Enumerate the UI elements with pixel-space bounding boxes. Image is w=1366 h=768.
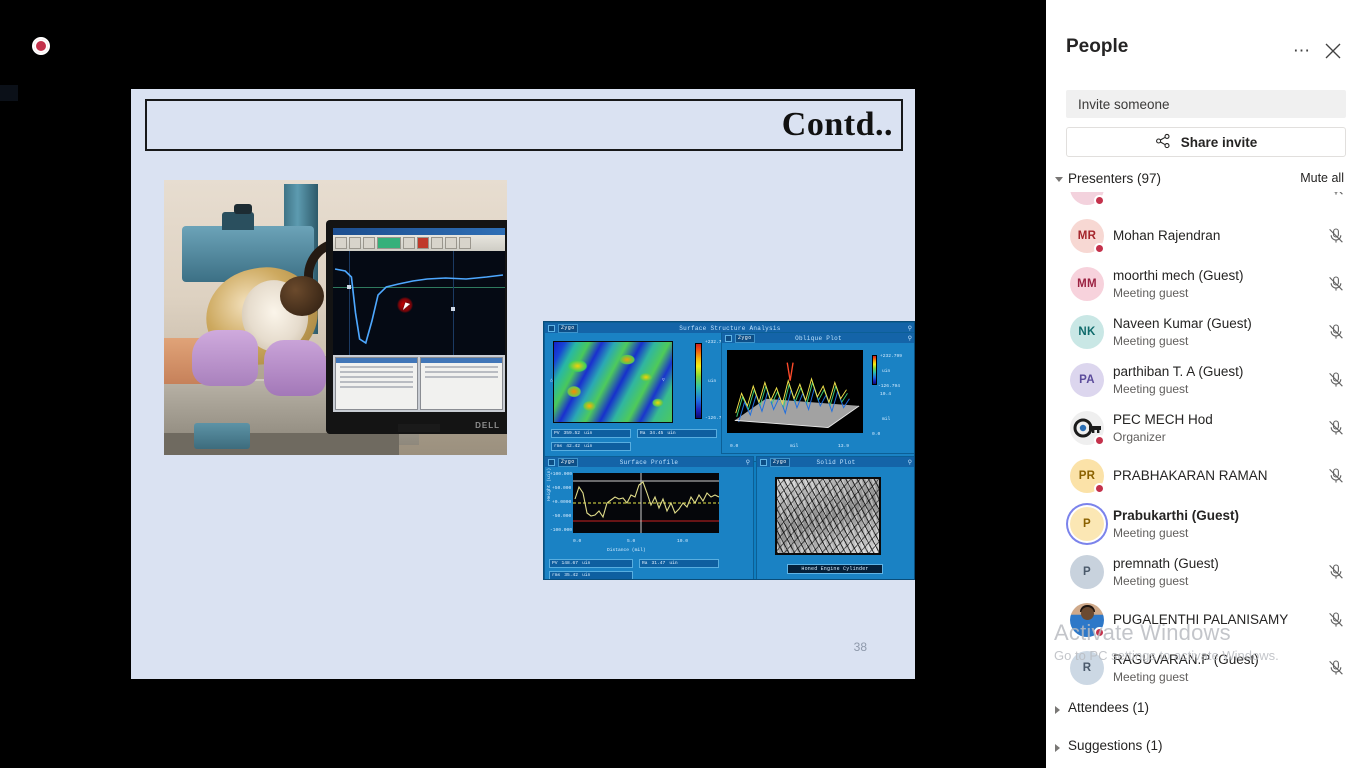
close-icon[interactable] bbox=[1322, 40, 1344, 62]
profile-xtick-2: 10.0 bbox=[677, 539, 688, 544]
participant-name: Mohan Rajendran bbox=[1113, 228, 1220, 243]
help-icon[interactable]: ⚲ bbox=[908, 325, 912, 332]
presence-badge bbox=[1094, 195, 1105, 206]
section-attendees-label: Attendees (1) bbox=[1068, 700, 1149, 715]
section-attendees[interactable]: Attendees (1) bbox=[1046, 700, 1366, 726]
profile-field-pv: PV 148.67 uin bbox=[549, 559, 633, 568]
mute-microphone-icon[interactable] bbox=[1326, 274, 1346, 294]
participant-role: Organizer bbox=[1113, 430, 1166, 444]
people-panel: People ⋯ Share invite bbox=[1046, 0, 1366, 768]
meeting-stage: Contd.. bbox=[0, 0, 1046, 768]
participant-name: moorthi mech (Guest) bbox=[1113, 268, 1244, 283]
avatar: R bbox=[1070, 651, 1104, 685]
help-icon[interactable]: ⚲ bbox=[746, 459, 750, 466]
oblique-x-min: 0.0 bbox=[730, 444, 738, 449]
avatar: NK bbox=[1070, 315, 1104, 349]
profile-ytick-4: -100.000 bbox=[550, 528, 572, 533]
participant-role: Meeting guest bbox=[1113, 286, 1188, 300]
participant-name: Naveen Kumar (Guest) bbox=[1113, 316, 1252, 331]
chevron-down-icon[interactable] bbox=[1055, 177, 1063, 182]
help-icon[interactable]: ⚲ bbox=[908, 459, 912, 466]
field-pv: PV 359.52 uin bbox=[551, 429, 631, 438]
zygo-panel-oblique-plot: Zygo Oblique Plot ⚲ bbox=[721, 332, 915, 454]
oblique-scale-min: -126.794 bbox=[878, 384, 900, 389]
zygo-panel-solid-plot: Zygo Solid Plot ⚲ Honed Engine Cylinder bbox=[756, 456, 915, 580]
panel-title: Surface Profile bbox=[545, 459, 753, 466]
participant-name: PUGALENTHI PALANISAMY bbox=[1113, 612, 1288, 627]
participant-role: Meeting guest bbox=[1113, 574, 1188, 588]
field-ra: Ra 34.45 uin bbox=[637, 429, 717, 438]
surface-profile-plot bbox=[573, 473, 719, 533]
share-icon bbox=[1155, 133, 1171, 152]
presence-badge bbox=[1094, 435, 1105, 446]
panel-title: Surface Structure Analysis bbox=[545, 325, 915, 332]
chevron-right-icon[interactable] bbox=[1055, 706, 1060, 714]
color-scale-bar bbox=[695, 343, 702, 419]
mute-microphone-icon[interactable] bbox=[1326, 322, 1346, 342]
help-icon[interactable]: ⚲ bbox=[908, 335, 912, 342]
profile-field-rms: rms 35.42 uin bbox=[549, 571, 633, 580]
participant-row[interactable]: Ppremnath (Guest)Meeting guest bbox=[1046, 548, 1366, 596]
mute-microphone-icon[interactable] bbox=[1326, 418, 1346, 438]
zygo-analysis-photo: Zygo Surface Structure Analysis ⚲ △ ▽ +2… bbox=[543, 321, 915, 580]
field-pv-unit: uin bbox=[584, 431, 592, 436]
share-invite-label: Share invite bbox=[1181, 135, 1258, 150]
profile-field-pv-value: 148.67 bbox=[562, 561, 579, 566]
field-rms-unit: uin bbox=[584, 444, 592, 449]
panel-title: Oblique Plot bbox=[722, 335, 915, 342]
field-pv-label: PV bbox=[554, 431, 560, 436]
mute-microphone-icon[interactable] bbox=[1326, 658, 1346, 678]
monitor: DELL bbox=[326, 220, 507, 434]
avatar: MM bbox=[1070, 267, 1104, 301]
panel-title: Solid Plot bbox=[757, 459, 915, 466]
profile-field-rms-value: 35.42 bbox=[564, 573, 578, 578]
profile-field-ra: Ra 31.47 uin bbox=[639, 559, 719, 568]
profile-field-rms-unit: uin bbox=[582, 573, 590, 578]
field-rms: rms 42.42 uin bbox=[551, 442, 631, 451]
oblique-3d-plot bbox=[727, 350, 863, 433]
oblique-color-scale bbox=[872, 355, 877, 385]
participant-role: Meeting guest bbox=[1113, 526, 1188, 540]
participant-role: Meeting guest bbox=[1113, 382, 1188, 396]
profile-ytick-1: +50.000 bbox=[552, 486, 571, 491]
participant-row[interactable]: MMMAKESH MANICKAM bbox=[1046, 192, 1366, 212]
participant-name: PEC MECH Hod bbox=[1113, 412, 1213, 427]
shared-slide[interactable]: Contd.. bbox=[131, 89, 915, 679]
oblique-scale-max: +232.799 bbox=[880, 354, 902, 359]
participant-name: MAKESH MANICKAM bbox=[1113, 192, 1247, 195]
field-pv-value: 359.52 bbox=[564, 431, 581, 436]
profile-xtick-1: 5.0 bbox=[627, 539, 635, 544]
participant-row[interactable]: NKNaveen Kumar (Guest)Meeting guest bbox=[1046, 308, 1366, 356]
profile-field-ra-value: 31.47 bbox=[652, 561, 666, 566]
presence-badge bbox=[1094, 627, 1105, 638]
mute-microphone-icon[interactable] bbox=[1326, 226, 1346, 246]
participant-row[interactable]: PRPRABHAKARAN RAMAN bbox=[1046, 452, 1366, 500]
avatar: P bbox=[1070, 555, 1104, 589]
avatar: P bbox=[1070, 507, 1104, 541]
share-invite-button[interactable]: Share invite bbox=[1066, 127, 1346, 157]
people-panel-title: People bbox=[1066, 36, 1128, 58]
participant-row[interactable]: MRMohan Rajendran bbox=[1046, 212, 1366, 260]
participant-row[interactable]: PAparthiban T. A (Guest)Meeting guest bbox=[1046, 356, 1366, 404]
section-presenters[interactable]: Presenters (97) Mute all bbox=[1046, 171, 1366, 193]
participant-name: parthiban T. A (Guest) bbox=[1113, 364, 1243, 379]
chevron-right-icon[interactable] bbox=[1055, 744, 1060, 752]
solid-plot-caption: Honed Engine Cylinder bbox=[787, 564, 883, 574]
profile-x-axis-label: Distance (mil) bbox=[607, 548, 646, 553]
ellipsis-icon[interactable]: ⋯ bbox=[1290, 40, 1314, 62]
oblique-x-max: 13.9 bbox=[838, 444, 849, 449]
solid-plot-image bbox=[775, 477, 881, 555]
participant-role: Meeting guest bbox=[1113, 670, 1188, 684]
mute-microphone-icon[interactable] bbox=[1326, 192, 1346, 198]
participant-row[interactable]: PPrabukarthi (Guest)Meeting guest bbox=[1046, 500, 1366, 548]
field-ra-unit: uin bbox=[667, 431, 675, 436]
participant-name: PRABHAKARAN RAMAN bbox=[1113, 468, 1268, 483]
participant-role: Meeting guest bbox=[1113, 334, 1188, 348]
participant-name: premnath (Guest) bbox=[1113, 556, 1219, 571]
colorbar-unit: uin bbox=[708, 379, 716, 384]
mute-microphone-icon[interactable] bbox=[1326, 562, 1346, 582]
field-rms-label: rms bbox=[554, 444, 562, 449]
profile-xtick-0: 0.0 bbox=[573, 539, 581, 544]
participant-row[interactable]: MMmoorthi mech (Guest)Meeting guest bbox=[1046, 260, 1366, 308]
invite-someone-input[interactable] bbox=[1066, 90, 1346, 118]
oblique-scale-unit: uin bbox=[882, 369, 890, 374]
mute-all-button[interactable]: Mute all bbox=[1300, 171, 1344, 185]
oblique-scale-extra: 10.4 bbox=[880, 392, 891, 397]
profile-field-ra-label: Ra bbox=[642, 561, 648, 566]
oblique-axis-unit: mil bbox=[882, 417, 890, 422]
mute-microphone-icon[interactable] bbox=[1326, 370, 1346, 390]
oblique-axis-label: mil bbox=[790, 444, 798, 449]
mute-microphone-icon[interactable] bbox=[1326, 610, 1346, 630]
slide-page-number: 38 bbox=[854, 640, 867, 654]
profile-ytick-0: +100.000 bbox=[550, 472, 572, 477]
lab-setup-photo: DELL bbox=[164, 180, 507, 455]
people-panel-header: People ⋯ bbox=[1046, 0, 1366, 72]
profile-field-pv-unit: uin bbox=[582, 561, 590, 566]
field-rms-value: 42.42 bbox=[566, 444, 580, 449]
slide-title: Contd.. bbox=[782, 108, 901, 142]
stage-left-stub bbox=[0, 85, 18, 101]
profile-field-ra-unit: uin bbox=[669, 561, 677, 566]
field-ra-label: Ra bbox=[640, 431, 646, 436]
participant-list[interactable]: MMMAKESH MANICKAMMRMohan RajendranMMmoor… bbox=[1046, 192, 1366, 700]
zygo-panel-surface-profile: Zygo Surface Profile ⚲ bbox=[544, 456, 754, 580]
mute-microphone-icon[interactable] bbox=[1326, 466, 1346, 486]
field-ra-value: 34.45 bbox=[650, 431, 664, 436]
section-suggestions[interactable]: Suggestions (1) bbox=[1046, 738, 1366, 764]
profile-field-rms-label: rms bbox=[552, 573, 560, 578]
participant-row[interactable]: PUGALENTHI PALANISAMY bbox=[1046, 596, 1366, 644]
participant-row[interactable]: PEC MECH HodOrganizer bbox=[1046, 404, 1366, 452]
oblique-y-zero: 0.0 bbox=[872, 432, 880, 437]
app-window: Contd.. bbox=[0, 0, 1366, 768]
presence-badge bbox=[1094, 243, 1105, 254]
participant-name: Prabukarthi (Guest) bbox=[1113, 508, 1239, 523]
monitor-brand-label: DELL bbox=[475, 421, 500, 430]
participant-name: RAGUVARAN.P (Guest) bbox=[1113, 652, 1259, 667]
profile-field-pv-label: PV bbox=[552, 561, 558, 566]
profile-ytick-3: -50.000 bbox=[552, 514, 571, 519]
recording-indicator-icon bbox=[32, 37, 50, 55]
participant-row[interactable]: RRAGUVARAN.P (Guest)Meeting guest bbox=[1046, 644, 1366, 692]
slide-title-box: Contd.. bbox=[145, 99, 903, 151]
avatar: PA bbox=[1070, 363, 1104, 397]
presence-badge bbox=[1094, 483, 1105, 494]
surface-heatmap bbox=[553, 341, 673, 423]
profile-ytick-2: +0.0000 bbox=[552, 500, 571, 505]
section-suggestions-label: Suggestions (1) bbox=[1068, 738, 1163, 753]
section-presenters-label: Presenters (97) bbox=[1068, 171, 1161, 186]
